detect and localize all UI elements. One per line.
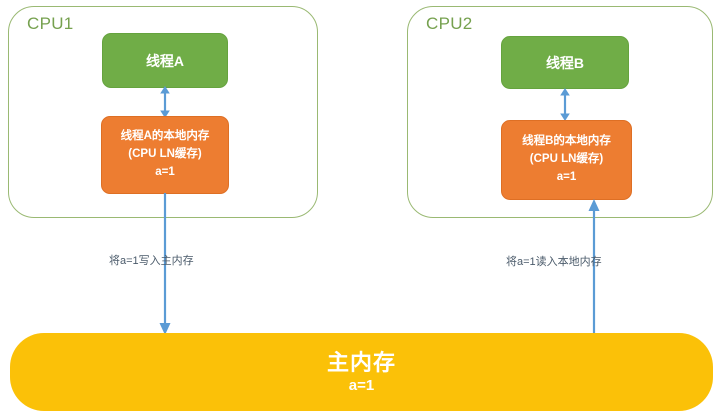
double-headed-vertical-arrow-icon	[555, 88, 575, 121]
main-memory-title: 主内存	[327, 349, 396, 377]
thread-a-box[interactable]: 线程A	[102, 33, 228, 88]
thread-a-local-memory-box[interactable]: 线程A的本地内存 (CPU LN缓存) a=1	[101, 116, 229, 194]
diagram-canvas: CPU1 线程A 线程A的本地内存 (CPU LN缓存) a=1 CPU2 线程…	[0, 0, 720, 417]
local-memory-a-line2: (CPU LN缓存)	[128, 146, 201, 164]
cpu2-title: CPU2	[426, 15, 473, 32]
read-into-local-memory-arrow-icon	[584, 199, 604, 337]
local-memory-b-line2: (CPU LN缓存)	[530, 151, 603, 169]
cpu1-title: CPU1	[27, 15, 74, 32]
read-into-local-memory-label: 将a=1读入本地内存	[506, 257, 602, 268]
main-memory-value: a=1	[349, 376, 374, 396]
thread-b-label: 线程B	[546, 53, 584, 73]
double-headed-vertical-arrow-icon	[155, 86, 175, 118]
local-memory-b-value: a=1	[557, 169, 577, 187]
local-memory-a-value: a=1	[155, 164, 175, 182]
thread-b-local-memory-box[interactable]: 线程B的本地内存 (CPU LN缓存) a=1	[501, 120, 632, 200]
main-memory-box[interactable]: 主内存 a=1	[10, 333, 713, 411]
thread-a-label: 线程A	[146, 51, 184, 71]
write-to-main-memory-label: 将a=1写入主内存	[109, 256, 194, 267]
local-memory-b-line1: 线程B的本地内存	[522, 133, 611, 151]
local-memory-a-line1: 线程A的本地内存	[121, 128, 210, 146]
thread-b-box[interactable]: 线程B	[501, 36, 629, 89]
